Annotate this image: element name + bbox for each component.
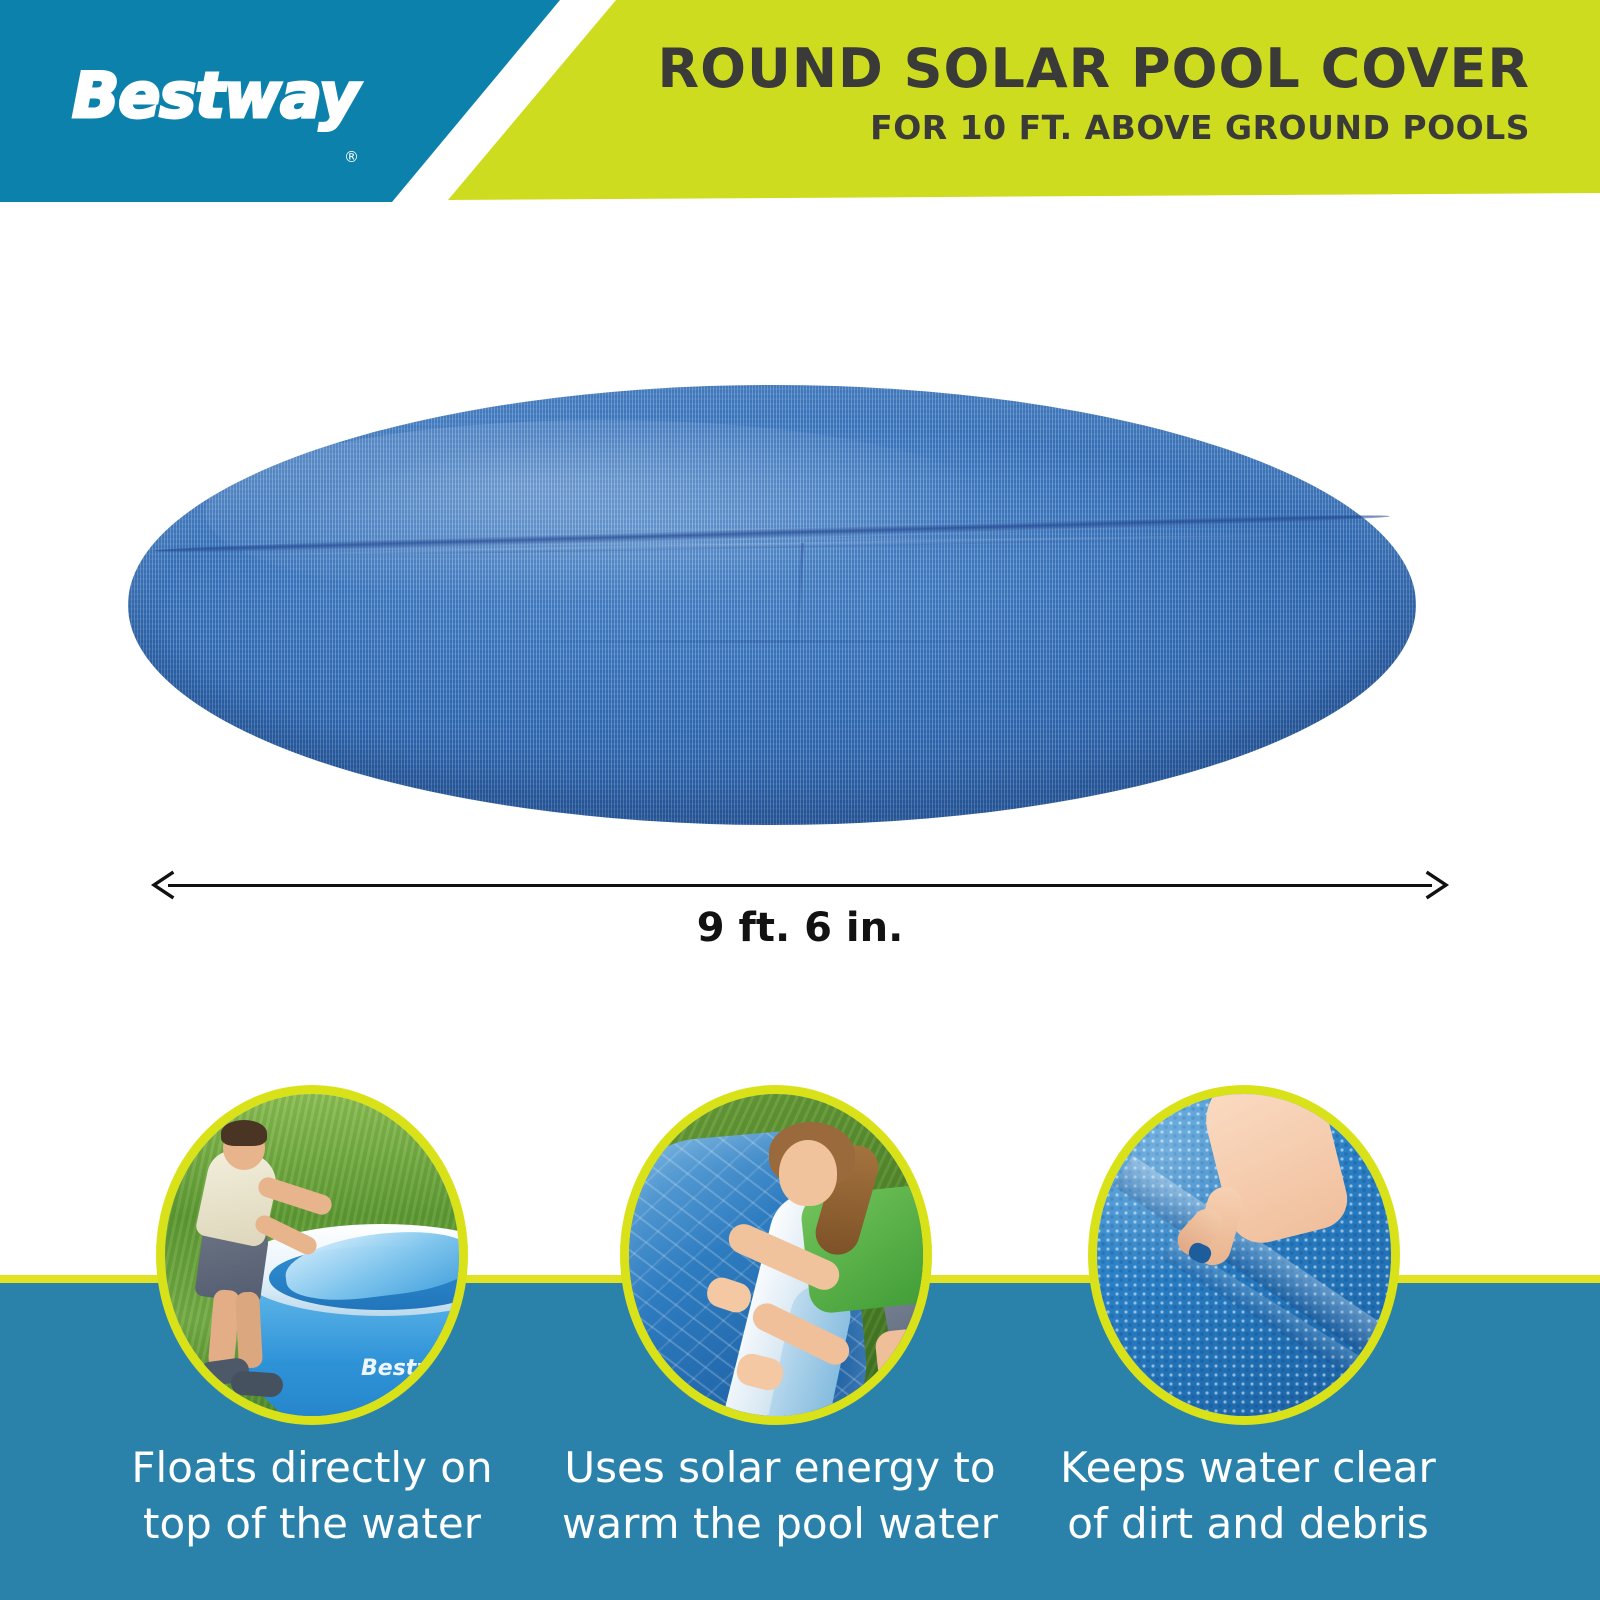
dimension-line xyxy=(168,884,1432,887)
dimension-label: 9 ft. 6 in. xyxy=(0,905,1600,951)
caption-solar: Uses solar energy to warm the pool water xyxy=(540,1440,1020,1552)
dimension-arrow xyxy=(0,865,1600,905)
solar-cover-surface xyxy=(128,385,1416,825)
woman-head xyxy=(779,1140,837,1206)
caption-line: of dirt and debris xyxy=(1008,1496,1488,1552)
page-subtitle: FOR 10 FT. ABOVE GROUND POOLS xyxy=(530,106,1530,150)
man-hair xyxy=(221,1120,267,1146)
arrow-left-icon xyxy=(150,870,176,900)
caption-line: Floats directly on xyxy=(72,1440,552,1496)
photo-man-placing-cover: Bestway xyxy=(165,1094,459,1416)
caption-debris: Keeps water clear of dirt and debris xyxy=(1008,1440,1488,1552)
arrow-right-icon xyxy=(1424,870,1450,900)
solar-cover-product-image xyxy=(128,385,1416,825)
caption-floats: Floats directly on top of the water xyxy=(72,1440,552,1552)
bestway-logo-text: Bestway xyxy=(72,52,372,140)
photo-hand-on-bubble-cover xyxy=(1097,1094,1391,1416)
caption-line: top of the water xyxy=(72,1496,552,1552)
caption-line: warm the pool water xyxy=(540,1496,1020,1552)
man-shoe-right xyxy=(230,1370,284,1398)
header-banner: Bestway ® ROUND SOLAR POOL COVER FOR 10 … xyxy=(0,0,1600,205)
photo-woman-smoothing-cover xyxy=(629,1094,923,1416)
pool-brand-label: Bestway xyxy=(361,1356,465,1381)
feature-captions: Floats directly on top of the water Uses… xyxy=(0,1440,1600,1600)
feature-thumbnails: Bestway xyxy=(0,1085,1600,1425)
man-leg-right xyxy=(235,1291,263,1368)
cover-highlight xyxy=(205,420,1004,605)
feature-photo-debris xyxy=(1088,1085,1400,1425)
caption-line: Uses solar energy to xyxy=(540,1440,1020,1496)
feature-photo-solar xyxy=(620,1085,932,1425)
caption-line: Keeps water clear xyxy=(1008,1440,1488,1496)
bestway-logo: Bestway ® xyxy=(72,52,372,140)
registered-trademark-icon: ® xyxy=(344,148,359,166)
page-title: ROUND SOLAR POOL COVER xyxy=(530,38,1530,100)
product-marketing-image: Bestway ® ROUND SOLAR POOL COVER FOR 10 … xyxy=(0,0,1600,1600)
header-title-group: ROUND SOLAR POOL COVER FOR 10 FT. ABOVE … xyxy=(530,38,1530,150)
cover-fold-horizontal xyxy=(437,640,1107,643)
hero-product-section: 9 ft. 6 in. xyxy=(0,205,1600,1060)
feature-photo-floats: Bestway xyxy=(156,1085,468,1425)
